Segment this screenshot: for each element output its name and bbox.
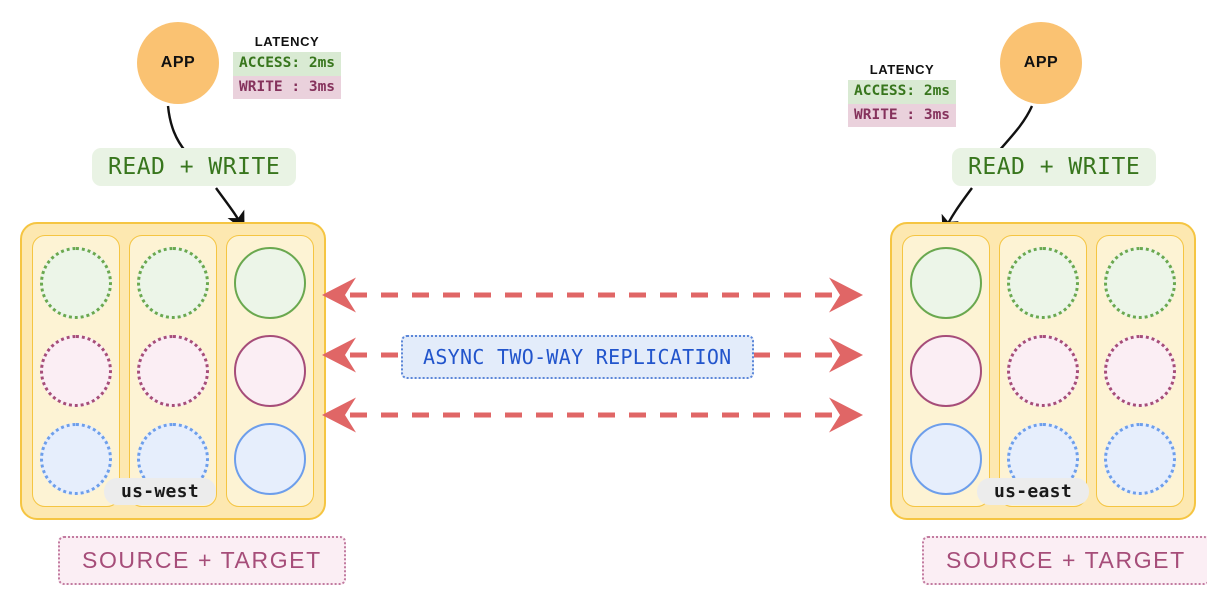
role-label-right: SOURCE + TARGET	[946, 547, 1186, 573]
role-badge-right: SOURCE + TARGET	[922, 536, 1207, 585]
read-write-label-right: READ + WRITE	[968, 154, 1140, 180]
node-pink-primary[interactable]	[910, 335, 982, 407]
region-column[interactable]	[1096, 235, 1184, 507]
region-us-east[interactable]	[890, 222, 1196, 520]
node-pink[interactable]	[1007, 335, 1079, 407]
node-pink[interactable]	[1104, 335, 1176, 407]
node-green[interactable]	[1104, 247, 1176, 319]
node-blue-primary[interactable]	[910, 423, 982, 495]
region-label-us-east: us-east	[977, 478, 1089, 505]
region-column-primary[interactable]	[902, 235, 990, 507]
read-write-pill-right: READ + WRITE	[952, 148, 1156, 186]
node-blue[interactable]	[1104, 423, 1176, 495]
diagram-canvas: APP LATENCY ACCESS: 2ms WRITE : 3ms READ…	[0, 0, 1207, 598]
node-green[interactable]	[1007, 247, 1079, 319]
region-column[interactable]	[999, 235, 1087, 507]
region-name-right: us-east	[994, 481, 1072, 502]
node-green-primary[interactable]	[910, 247, 982, 319]
